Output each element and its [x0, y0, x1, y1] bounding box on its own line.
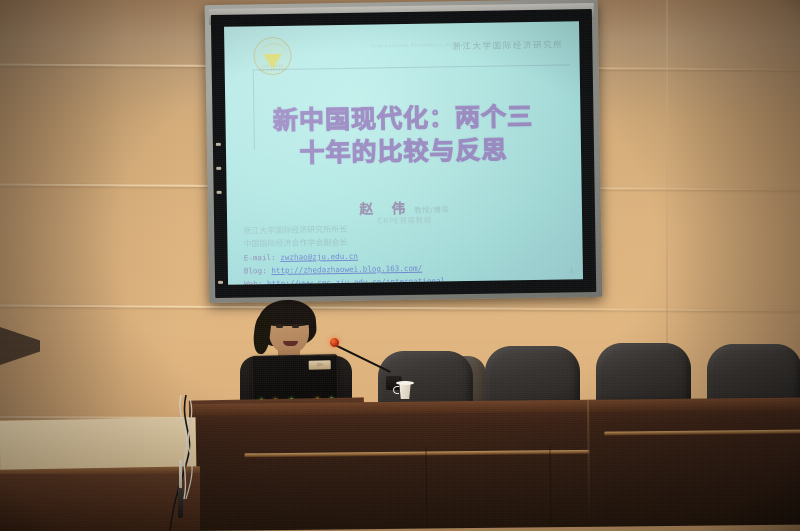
slide-title-line-1: 新中国现代化：两个三 [225, 99, 580, 138]
slide-contact-block: E-mail: zwzhao@zju.edu.cn Blog: http://z… [244, 249, 446, 284]
podium-panel-line [425, 448, 427, 526]
laptop[interactable]: ZJU [252, 354, 339, 403]
podium-trim [245, 450, 590, 458]
podium-trim [604, 430, 800, 436]
slide-title: 新中国现代化：两个三 十年的比较与反思 [225, 99, 581, 171]
speaker-eye-left [276, 325, 283, 328]
cable-white-2 [186, 399, 192, 499]
podium-seam [587, 400, 590, 527]
cup-handle [393, 386, 399, 394]
slide-page-number: 1 [570, 266, 574, 274]
slide-header-rule [253, 64, 570, 70]
slide-header-text: 浙江大学国际经济研究所 [452, 38, 563, 52]
cup-rim [396, 381, 414, 385]
frame-stud [216, 143, 221, 146]
speaker-hair-side [252, 313, 273, 355]
microphone-indicator-icon[interactable] [330, 338, 339, 347]
podium-panel-line [549, 446, 551, 524]
frame-stud [217, 191, 222, 194]
chair-3[interactable] [596, 343, 691, 407]
slide-canvas: ZHEJIANG UNIVERSITY International Econom… [224, 21, 583, 285]
slide-contact-web-label: Web: [244, 279, 262, 285]
slide-contact-email-label: E-mail: [244, 253, 276, 263]
mic-stand-lower [178, 488, 183, 518]
slide-contact-blog-label: Blog: [244, 266, 267, 275]
cable-bundle [150, 395, 230, 531]
slide-contact-web-value[interactable]: http://www.cec.zju.edu.cn/international [267, 276, 445, 285]
slide-affiliation-block: 浙江大学国际经济研究所所长 中国国际经济合作学会副会长 [243, 224, 347, 252]
slide-contact-email-value[interactable]: zwzhao@zju.edu.cn [280, 252, 358, 262]
podium [189, 398, 800, 531]
frame-stud [218, 281, 223, 284]
mic-stand-upper [179, 460, 182, 490]
lecture-hall-scene: PROJECTION ZHEJIANG UNIVERSITY Internati… [0, 0, 800, 531]
projection-screen[interactable]: PROJECTION ZHEJIANG UNIVERSITY Internati… [205, 0, 603, 303]
speaker-eye-right [292, 325, 299, 328]
frame-stud [216, 167, 221, 170]
laptop-label: ZJU [309, 360, 331, 369]
slide-affiliation-line-2: 中国国际经济合作学会副会长 [243, 237, 347, 252]
slide-contact-blog-value[interactable]: http://zhedazhaowei.blog.163.com/ [271, 263, 422, 274]
screen-frame: ZHEJIANG UNIVERSITY International Econom… [211, 9, 596, 298]
slide-title-line-2: 十年的比较与反思 [226, 132, 581, 171]
